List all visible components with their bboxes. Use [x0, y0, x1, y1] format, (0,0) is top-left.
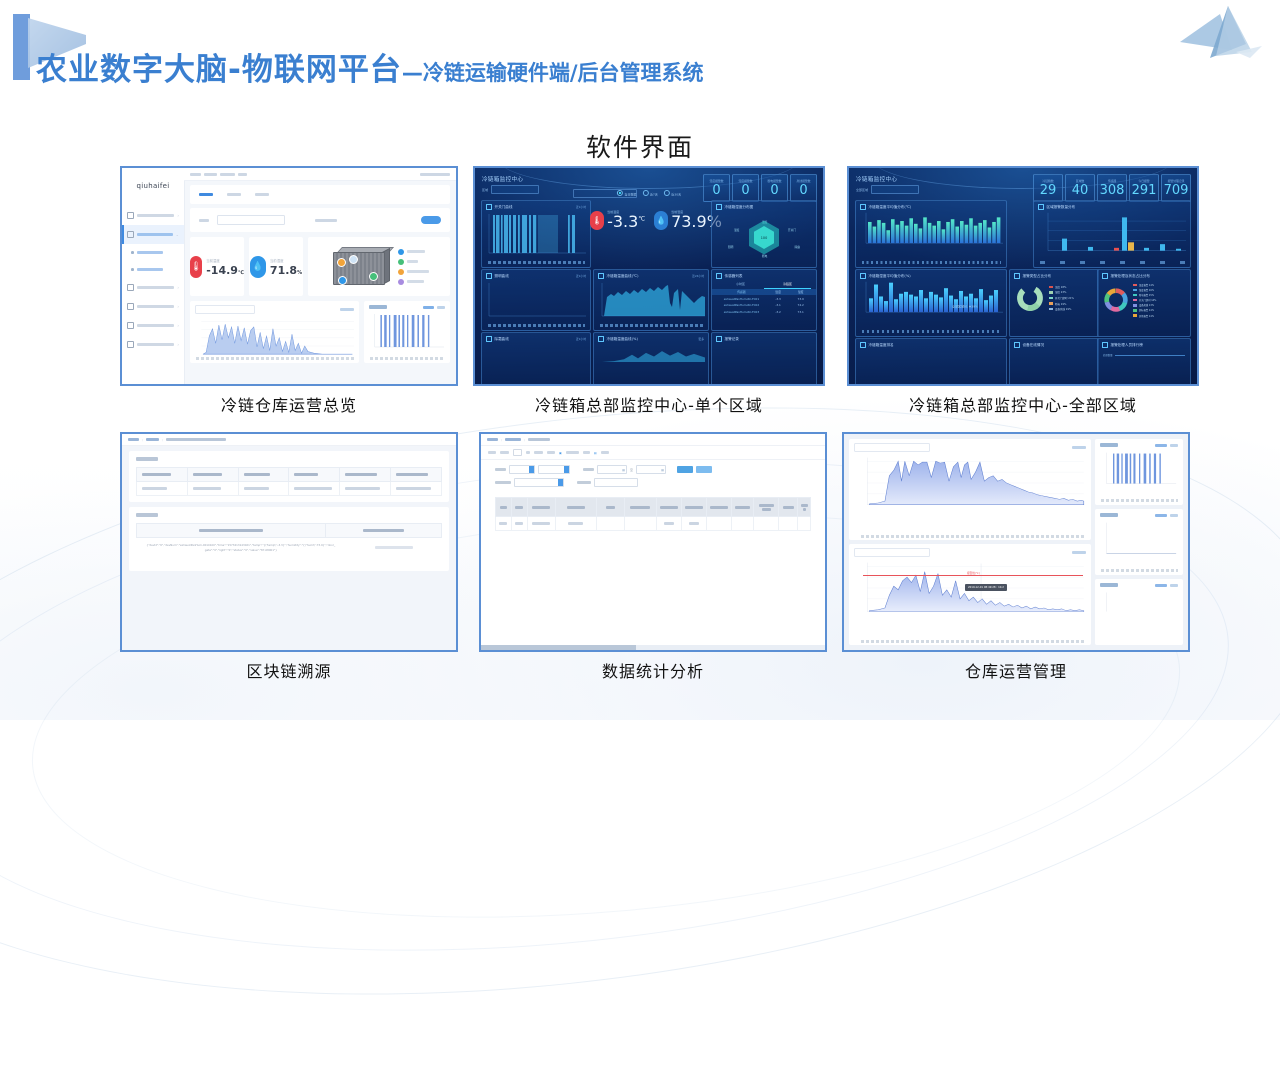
- region-select[interactable]: [538, 465, 570, 474]
- device-info-table: [136, 467, 442, 496]
- chart-more-link[interactable]: [1072, 446, 1086, 449]
- panel-alarm-records[interactable]: 报警记录: [711, 332, 817, 384]
- legend: 温度报警 14% 湿度报警 16% 断电报警 15% 开关门超时 14% 设备离…: [1133, 283, 1156, 318]
- legend-swatch-icon: [1133, 284, 1137, 286]
- tab-hour-region[interactable]: 小时区: [717, 282, 764, 289]
- panel-range-link[interactable]: [1155, 444, 1167, 447]
- chart-annotation: 全部区域01 #39%: [952, 304, 978, 309]
- screenshot-thumbnail-blockchain[interactable]: / /: [120, 432, 458, 652]
- breadcrumb-item[interactable]: [128, 438, 139, 441]
- panel-more-link[interactable]: [1170, 584, 1178, 587]
- toolbar-last-page[interactable]: [547, 451, 555, 454]
- table-cell: [496, 517, 512, 531]
- sensor-pin-icon[interactable]: [349, 255, 358, 264]
- title-sub-text: —冷链运输硬件端/后台管理系统: [402, 61, 704, 85]
- stat-box-humi-alarm: 湿度报警数0: [732, 174, 759, 202]
- table-header-cell: [137, 524, 326, 538]
- device-info-card: [129, 451, 449, 502]
- calendar-icon: ▦: [661, 468, 665, 472]
- device-select[interactable]: [217, 215, 285, 225]
- table-cell: [511, 517, 527, 531]
- stat-box-power-alarm: 断电报警数0: [761, 174, 788, 202]
- region-select-box[interactable]: [491, 185, 539, 194]
- screenshot-thumbnail-warehouse[interactable]: 报警线(℃) 2019-12-01 08:49:28 : 10.2: [842, 432, 1190, 652]
- legend-swatch-icon: [1049, 308, 1053, 311]
- breadcrumb-item[interactable]: [238, 173, 247, 176]
- sidebar-item-workbench[interactable]: ›: [122, 206, 184, 225]
- breadcrumb-item[interactable]: [146, 438, 159, 441]
- x-axis-labels: [370, 357, 445, 360]
- radio-30days[interactable]: 近30天: [664, 190, 681, 197]
- filter-label-customer: [495, 481, 511, 484]
- x-axis-labels: [862, 330, 1001, 333]
- panel-humidity-distribution[interactable]: 冷链箱湿度平均值分布(%): [855, 269, 1007, 337]
- bar-chart-svg: [1100, 449, 1178, 489]
- date-to-input[interactable]: ▦: [636, 465, 666, 474]
- panel-device-online[interactable]: 设备在线情况: [1009, 338, 1099, 384]
- chevron-down-icon: ⌄: [176, 233, 179, 237]
- container-visual-card: [308, 237, 450, 296]
- legend-swatch-icon: [1049, 302, 1053, 305]
- radio-icon: [664, 190, 670, 196]
- legend-item: 设备离线 19%: [1049, 307, 1074, 311]
- table-cell: [238, 482, 289, 496]
- table-cell: [656, 517, 681, 531]
- panel-alarm-type-donut[interactable]: 报警类型占比分布 温度 18% 湿度 23% 开关门超时 21% 断电 19% …: [1009, 269, 1099, 337]
- chevron-right-icon: ›: [177, 214, 179, 218]
- chain-data-card: {"devId":"0","devNum":"exhaustPanHum-001…: [129, 507, 449, 571]
- x-axis-labels: [862, 261, 1001, 264]
- breadcrumb-item[interactable]: [505, 438, 521, 441]
- region-select-box[interactable]: [871, 185, 919, 194]
- range-radio-group[interactable]: 当日数据 近7天 近30天: [617, 190, 681, 197]
- sidebar-item-statistics[interactable]: ›: [122, 316, 184, 335]
- pie-icon: [1102, 273, 1108, 279]
- table-cell: [340, 482, 391, 496]
- panel-title: [1100, 583, 1118, 587]
- area-chart-svg: [594, 342, 708, 362]
- legend-item: 设备离线 13%: [1133, 303, 1156, 307]
- legend-item: 湿度报警 16%: [1133, 288, 1156, 292]
- stat-box-temp-alarm: 温度报警数0: [703, 174, 730, 202]
- metric-value: 71.8%: [270, 265, 302, 276]
- chart-sensor-select[interactable]: [854, 443, 930, 452]
- stat-boxes: 冷链箱数29 区域数40 传感器308 今日报警291 报警处理记录709: [1033, 174, 1191, 202]
- chart-icon: [127, 322, 134, 329]
- filter-label-time: [583, 468, 594, 471]
- legend-item: [398, 259, 429, 265]
- legend-dot-icon: [398, 279, 404, 285]
- legend-swatch-icon: [1133, 304, 1137, 306]
- panel-alarm-distribution[interactable]: 区域报警数量分布: [1033, 200, 1191, 268]
- chevron-right-icon: ›: [177, 343, 179, 347]
- table-row[interactable]: exhaustPanHum-RC-TC02 -3.1 74.2: [712, 302, 816, 309]
- table-header-cell: [596, 498, 624, 517]
- panel-door-curve[interactable]: 开关门曲线近1小时: [481, 200, 591, 268]
- metric-label: 当前湿度: [270, 258, 284, 263]
- filter-form: ▦ 至 ▦: [481, 460, 825, 493]
- panel-defrost-curve[interactable]: [1095, 579, 1183, 645]
- panel-door-curve[interactable]: [1095, 439, 1183, 505]
- x-axis-labels: [488, 261, 585, 264]
- thumbnail-caption-monitor-single: 冷链箱总部监控中心-单个区域: [473, 392, 825, 416]
- legend-swatch-icon: [1133, 314, 1137, 316]
- search-button[interactable]: [677, 466, 693, 473]
- bar-chart-svg: [856, 210, 1006, 256]
- table-toolbar[interactable]: ▣ ▤: [481, 446, 825, 460]
- metric-value: -14.9℃: [206, 265, 244, 276]
- legend-item: 超标报警 14%: [1133, 308, 1156, 312]
- filter-bar: [190, 208, 450, 232]
- panel-title: [1100, 443, 1118, 447]
- toolbar-filter[interactable]: [601, 451, 609, 454]
- filter-icon[interactable]: ▤: [594, 451, 597, 455]
- stat-box-handled-records: 报警处理记录709: [1161, 174, 1191, 202]
- chart-range-link[interactable]: [423, 306, 434, 309]
- breadcrumb: / /: [481, 434, 825, 446]
- filter-label-device: [577, 481, 591, 484]
- x-axis-labels: [600, 324, 703, 327]
- table-cell: [289, 482, 340, 496]
- metric-label: 当前温度: [206, 258, 220, 263]
- table-cell: [732, 517, 754, 531]
- panel-light-curve[interactable]: [1095, 509, 1183, 575]
- toolbar-count: [583, 451, 590, 454]
- radio-today[interactable]: 当日数据: [617, 190, 637, 197]
- thumbnail-caption-stats: 数据统计分析: [479, 658, 827, 682]
- stat-box-today-alarm: 今日报警291: [1129, 174, 1159, 202]
- sensor-pin-icon[interactable]: [338, 276, 347, 285]
- legend-swatch-icon: [1133, 299, 1137, 301]
- chart-sensor-select[interactable]: [854, 548, 930, 557]
- hexagon-gauge: 100: [749, 221, 779, 255]
- filter-row-2: [495, 478, 811, 487]
- thumbnail-caption-overview: 冷链仓库运营总览: [120, 392, 458, 416]
- bar-chart-svg: [369, 311, 445, 351]
- chart-temperature-area[interactable]: [190, 301, 359, 363]
- x-axis-labels: [488, 324, 585, 327]
- toolbar-next-page[interactable]: [534, 451, 543, 454]
- title-main-text: 农业数字大脑-物联网平台: [36, 52, 402, 88]
- panel-humidity-hex[interactable]: 冷链箱湿度分布图 温度 湿度 开关门 照明 除霜 断电 100: [711, 200, 817, 268]
- dashboard-title: 冷链箱监控中心: [482, 175, 523, 183]
- humidity-icon: 💧: [250, 256, 266, 278]
- data-table: [495, 497, 811, 531]
- metric-value: -3.3℃: [607, 214, 645, 230]
- device-input[interactable]: [594, 478, 638, 487]
- radio-7days[interactable]: 近7天: [642, 190, 657, 197]
- panel-range-link[interactable]: [1155, 514, 1167, 517]
- metric-card-humidity: 💧 当前湿度 71.8%: [249, 237, 303, 296]
- tab-bar[interactable]: [190, 185, 450, 204]
- panel-range-link[interactable]: [1155, 584, 1167, 587]
- filter-row-1: ▦ 至 ▦: [495, 465, 811, 474]
- screenshot-thumbnail-monitor-all[interactable]: 冷链箱监控中心 全部区域 冷链箱数29 区域数40 传感器308 今日报警291…: [847, 166, 1199, 386]
- gear-icon: [127, 341, 134, 348]
- table-cell: [391, 482, 442, 496]
- sidebar-item-monitor[interactable]: ›: [122, 278, 184, 297]
- sidebar-subitem-coldbox-manage[interactable]: [122, 244, 184, 261]
- legend-item: [398, 279, 429, 285]
- area-chart-svg: [195, 316, 354, 356]
- legend: 温度 18% 湿度 23% 开关门超时 21% 断电 19% 设备离线 19%: [1049, 285, 1074, 311]
- dot-icon: [131, 268, 134, 271]
- center-metrics: 🌡 当前温度 -3.3℃ 💧 当前湿度 73.9%: [587, 210, 725, 230]
- chevron-right-icon: ›: [177, 305, 179, 309]
- legend: [398, 249, 429, 285]
- breadcrumb-item[interactable]: [204, 173, 217, 176]
- panel-title: [1100, 513, 1118, 517]
- humidity-icon: 💧: [654, 211, 668, 230]
- chain-data-table: [136, 523, 442, 538]
- donut-chart-svg: [1015, 283, 1045, 313]
- region-selector[interactable]: 区域: [482, 185, 539, 194]
- box-icon: [127, 231, 134, 238]
- panel-more-link[interactable]: [1170, 514, 1178, 517]
- x-axis-labels: [861, 640, 1086, 643]
- stat-box-offline-alarm: 离线报警数0: [790, 174, 817, 202]
- empty-chart-svg: [1100, 589, 1178, 615]
- table-cell: [681, 517, 706, 531]
- horizontal-scrollbar[interactable]: [481, 645, 825, 650]
- metric-card-temperature: 🌡 当前温度 -14.9℃: [190, 237, 244, 296]
- table-cell: [555, 517, 596, 531]
- thermometer-icon: 🌡: [190, 256, 202, 278]
- table-header-row: [137, 524, 442, 538]
- check-icon: [1014, 342, 1020, 348]
- breadcrumb-item[interactable]: [220, 173, 235, 176]
- filter-label-type: [495, 468, 506, 471]
- chart-more-link[interactable]: [340, 308, 354, 311]
- sidebar-logo: qiuhaifei: [122, 182, 184, 190]
- dot-icon: [131, 251, 134, 254]
- region-selector-label: 区域: [482, 188, 488, 192]
- thumbnail-caption-monitor-all: 冷链箱总部监控中心-全部区域: [847, 392, 1199, 416]
- table-header-cell: [527, 498, 555, 517]
- legend-dot-icon: [398, 259, 404, 265]
- page-title-bar: 农业数字大脑-物联网平台—冷链运输硬件端/后台管理系统: [0, 14, 1280, 80]
- thumbnail-caption-warehouse: 仓库运营管理: [842, 658, 1190, 682]
- legend-item: 开关门超时 21%: [1049, 296, 1074, 300]
- sidebar-item-coldbox[interactable]: ⌄: [122, 225, 184, 244]
- sensor-tabs[interactable]: 小时区 冷链区: [717, 282, 811, 289]
- grid-icon: [127, 212, 134, 219]
- metric-temperature: 🌡 当前温度 -3.3℃: [590, 210, 645, 230]
- pie-icon: [1014, 273, 1020, 279]
- chain-icon: [127, 303, 134, 310]
- x-axis-labels: [861, 535, 1086, 538]
- table-row[interactable]: [496, 517, 811, 531]
- table-cell: [754, 517, 779, 531]
- toolbar-export-all[interactable]: [566, 451, 579, 454]
- table-header-cell: [754, 498, 779, 517]
- bell-icon: [716, 336, 722, 342]
- legend-item: 断电 19%: [1049, 302, 1074, 306]
- legend-swatch-icon: [1049, 286, 1053, 289]
- area-chart-svg: [854, 454, 1086, 512]
- table-cell: [187, 482, 238, 496]
- cold-container-image: [329, 246, 389, 288]
- chevron-right-icon: ›: [177, 324, 179, 328]
- section-title-chain-data: [136, 513, 158, 517]
- stat-boxes: 温度报警数0 湿度报警数0 断电报警数0 离线报警数0: [703, 174, 817, 202]
- table-header-cell: [656, 498, 681, 517]
- dashboard-title: 冷链箱监控中心: [856, 175, 897, 183]
- legend-item: 温度 18%: [1049, 285, 1074, 289]
- panel-sensor-list[interactable]: 传感器列表 小时区 冷链区 传感器 温度 湿度 exhaustPanHum-RC…: [711, 269, 817, 331]
- filter-status-text: [315, 219, 337, 222]
- breadcrumb-item[interactable]: [190, 173, 201, 176]
- x-axis-labels: [1101, 499, 1178, 502]
- export-all-icon[interactable]: ▣: [559, 451, 562, 455]
- panel-more-link[interactable]: [1170, 444, 1178, 447]
- region-selector[interactable]: 全部区域: [856, 185, 919, 194]
- table-header-cell: [187, 468, 238, 482]
- section-heading: 软件界面: [0, 128, 1280, 164]
- chevron-right-icon: ›: [177, 286, 179, 290]
- table-cell: [137, 482, 188, 496]
- breadcrumb: [184, 168, 456, 181]
- screenshot-thumbnail-monitor-single[interactable]: 冷链箱监控中心 区域 温度报警数0 湿度报警数0 断电报警数0 离线报警数0 开…: [473, 166, 825, 386]
- sidebar-item-settings[interactable]: ›: [122, 335, 184, 354]
- thermometer-icon: 🌡: [590, 211, 604, 230]
- search-button[interactable]: [421, 216, 441, 225]
- sensor-pin-icon[interactable]: [369, 272, 378, 281]
- legend-item: [398, 269, 429, 275]
- breadcrumb-item[interactable]: [487, 438, 498, 441]
- screenshot-thumbnail-overview[interactable]: qiuhaifei › ⌄ › › › ›: [120, 166, 458, 386]
- tab-cold-region[interactable]: 冷链区: [764, 282, 811, 289]
- table-header-cell: [391, 468, 442, 482]
- table-header-cell: [511, 498, 527, 517]
- list-icon: [716, 273, 722, 279]
- legend-swatch-icon: [1133, 294, 1137, 296]
- x-axis-labels: [1101, 569, 1178, 572]
- legend-swatch-icon: [1133, 289, 1137, 291]
- tab-alarm[interactable]: [227, 193, 241, 197]
- empty-chart-svg: [1100, 519, 1178, 559]
- table-header-cell: [707, 498, 732, 517]
- panel-light-curve[interactable]: 照明曲线近1小时: [481, 269, 591, 331]
- thumbnail-caption-blockchain: 区块链溯源: [120, 658, 458, 682]
- stat-box-region-count: 区域数40: [1065, 174, 1095, 202]
- customer-input[interactable]: [514, 478, 564, 487]
- dashboard-sidebar: qiuhaifei › ⌄ › › › ›: [122, 168, 185, 384]
- sidebar-menu: › ⌄ › › › ›: [122, 206, 184, 354]
- legend-item: 其他报警 14%: [1133, 314, 1156, 318]
- donut-chart-svg: [1102, 286, 1130, 314]
- panel-alarm-status-donut[interactable]: 报警处理及状态占比分布 温度报警 14% 湿度报警 16% 断电报警 15% 开…: [1097, 269, 1191, 337]
- table-row[interactable]: exhaustPanHum-RC-TC03 -3.2 73.1: [712, 309, 816, 316]
- table-cell: [596, 517, 624, 531]
- stat-box-coldbox-count: 冷链箱数29: [1033, 174, 1063, 202]
- table-header-row: [137, 468, 442, 482]
- chart-tooltip: 2019-12-01 08:49:28 : 10.2: [965, 584, 1007, 591]
- table-header: 传感器 温度 湿度: [712, 289, 816, 296]
- calendar-icon: ▦: [622, 468, 626, 472]
- screenshot-thumbnail-stats[interactable]: / / ▣ ▤ ▦ 至 ▦: [479, 432, 827, 652]
- breadcrumb-current: [166, 438, 226, 441]
- radio-icon: [642, 190, 648, 196]
- table-header-cell: [732, 498, 754, 517]
- legend-dot-icon: [398, 249, 404, 255]
- page-number-input[interactable]: [513, 449, 522, 456]
- legend-dot-icon: [398, 269, 404, 275]
- x-axis-labels: [1040, 261, 1185, 264]
- legend-item: 开关门超时 14%: [1133, 298, 1156, 302]
- region-selector-label: 全部区域: [856, 188, 868, 192]
- panel-temp-distribution[interactable]: 冷链箱温度平均值分布(℃): [855, 200, 1007, 268]
- chart-more-link[interactable]: [1072, 551, 1086, 554]
- type-select[interactable]: [509, 465, 535, 474]
- chart-door-bars[interactable]: [364, 301, 450, 363]
- breadcrumb-current: [528, 438, 550, 441]
- table-cell: [625, 517, 657, 531]
- header-user-info[interactable]: [420, 173, 450, 176]
- date-from-input[interactable]: ▦: [597, 465, 627, 474]
- legend-item: 断电报警 15%: [1133, 293, 1156, 297]
- table-header-cell: [326, 524, 442, 538]
- chart-device-select[interactable]: [195, 305, 255, 314]
- table-cell: [707, 517, 732, 531]
- user-icon: [1102, 342, 1108, 348]
- panel-temp-curve[interactable]: 冷链箱温度曲线(℃)近24小时: [593, 269, 709, 331]
- panel-temp-ranking[interactable]: 冷链箱温度排名: [855, 338, 1007, 384]
- table-cell: [798, 517, 811, 531]
- reset-button[interactable]: [696, 466, 712, 473]
- sidebar-item-blockchain[interactable]: ›: [122, 297, 184, 316]
- breadcrumb: / /: [122, 434, 456, 446]
- page-title: 农业数字大脑-物联网平台—冷链运输硬件端/后台管理系统: [36, 44, 704, 89]
- table-header-cell: [340, 468, 391, 482]
- toolbar-total-pages: [526, 451, 530, 454]
- table-header-cell: [779, 498, 798, 517]
- radio-icon: [617, 190, 623, 196]
- alarm-threshold-line: [863, 575, 1083, 576]
- sidebar-subitem-warehouse[interactable]: [122, 261, 184, 278]
- tab-realtime[interactable]: [199, 193, 213, 197]
- bar-chart-svg: [1034, 210, 1190, 258]
- table-header-cell: [798, 498, 811, 517]
- table-row[interactable]: exhaustPanHum-RC-TC01 -3.3 73.9: [712, 295, 816, 302]
- chain-hash-content: [346, 538, 442, 557]
- chart-more-link[interactable]: [437, 306, 445, 309]
- legend-item: 湿度 23%: [1049, 290, 1074, 294]
- section-title-device-info: [136, 457, 158, 461]
- panel-humidity-curve[interactable]: 冷链箱温度曲线(%)更多: [593, 332, 709, 384]
- x-axis-labels: [196, 357, 354, 360]
- area-chart-svg: [594, 279, 708, 321]
- table-header-cell: [555, 498, 596, 517]
- toolbar-export[interactable]: [488, 451, 496, 454]
- legend-swatch-icon: [1049, 297, 1053, 300]
- panel-defrost-curve[interactable]: 除霜曲线近1小时: [481, 332, 591, 384]
- stat-box-sensor-count: 传感器308: [1097, 174, 1127, 202]
- panel-staff-ranking[interactable]: 报警处理人员排行榜 处理数量: [1097, 338, 1191, 384]
- tab-history[interactable]: [255, 193, 269, 197]
- empty-chart-svg: [482, 279, 590, 321]
- chart-humidity-card[interactable]: 报警线(℃) 2019-12-01 08:49:28 : 10.2: [849, 544, 1091, 645]
- table-header-cell: [289, 468, 340, 482]
- rank-icon: [860, 342, 866, 348]
- table-row[interactable]: [137, 482, 442, 496]
- date-range-separator: 至: [630, 468, 633, 472]
- toolbar-prev-page[interactable]: [500, 451, 509, 454]
- table-header-cell: [137, 468, 188, 482]
- snowflake-icon: [486, 336, 492, 342]
- sensor-pin-icon[interactable]: [337, 258, 346, 267]
- chart-temperature-card[interactable]: [849, 439, 1091, 540]
